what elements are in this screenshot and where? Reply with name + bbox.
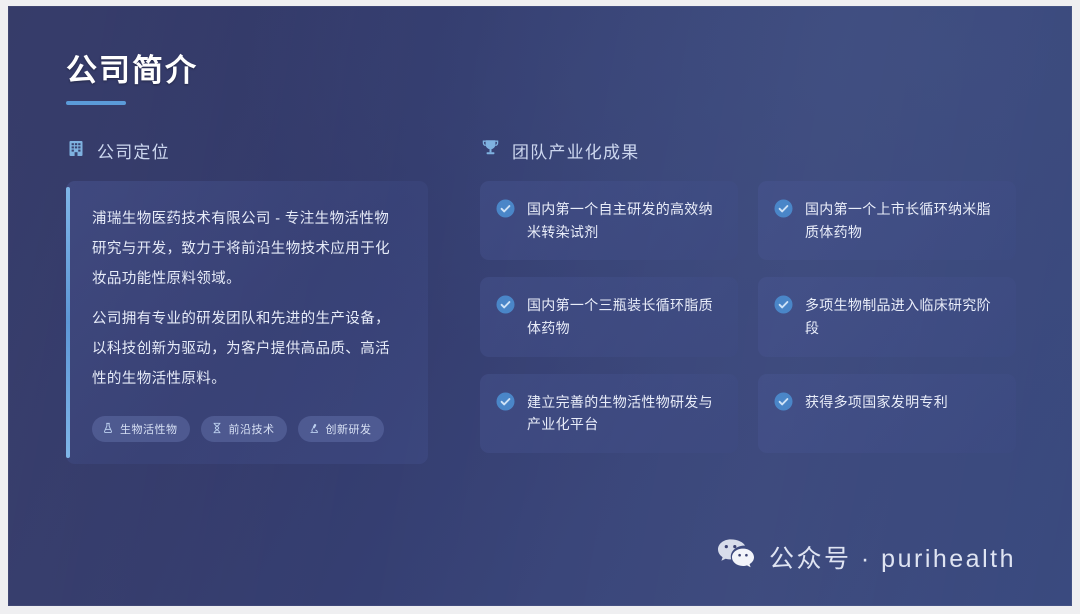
check-circle-icon: [496, 199, 515, 223]
section-header-company-positioning: 公司定位: [66, 138, 428, 162]
section-header-achievements: 团队产业化成果: [480, 138, 1016, 162]
check-circle-icon: [496, 295, 515, 319]
footer-watermark: 公众号 · purihealth: [716, 537, 1016, 576]
slide-content: 公司简介: [8, 6, 1072, 606]
achievement-item[interactable]: 国内第一个上市长循环纳米脂质体药物: [758, 181, 1016, 260]
wechat-icon: [716, 537, 756, 576]
achievement-item[interactable]: 国内第一个自主研发的高效纳米转染试剂: [480, 181, 738, 260]
check-circle-icon: [774, 199, 793, 223]
company-positioning-column: 公司定位 浦瑞生物医药技术有限公司 - 专注生物活性物研究与开发，致力于将前沿生…: [66, 138, 428, 464]
tag-label: 前沿技术: [229, 421, 275, 437]
about-paragraph-2: 公司拥有专业的研发团队和先进的生产设备，以科技创新为驱动，为客户提供高品质、高活…: [92, 305, 402, 394]
hourglass-icon: [211, 422, 223, 437]
tag-innovation-rd[interactable]: 创新研发: [298, 416, 384, 442]
slide-frame: 公司简介: [0, 0, 1080, 614]
achievement-text: 国内第一个三瓶装长循环脂质体药物: [527, 294, 720, 339]
achievement-item[interactable]: 国内第一个三瓶装长循环脂质体药物: [480, 277, 738, 356]
tag-bioactive[interactable]: 生物活性物: [92, 416, 190, 442]
title-underline: [66, 101, 126, 105]
section-label-company-positioning: 公司定位: [97, 138, 170, 163]
achievement-text: 获得多项国家发明专利: [805, 391, 948, 414]
check-circle-icon: [774, 392, 793, 416]
check-circle-icon: [496, 392, 515, 416]
two-column-layout: 公司定位 浦瑞生物医药技术有限公司 - 专注生物活性物研究与开发，致力于将前沿生…: [66, 138, 1016, 464]
tag-list: 生物活性物 前沿技术: [92, 416, 402, 442]
tag-frontier-tech[interactable]: 前沿技术: [201, 416, 287, 442]
company-positioning-card: 浦瑞生物医药技术有限公司 - 专注生物活性物研究与开发，致力于将前沿生物技术应用…: [66, 181, 428, 464]
trophy-icon: [480, 137, 501, 163]
building-icon: [66, 138, 86, 163]
achievement-item[interactable]: 获得多项国家发明专利: [758, 374, 1016, 453]
achievements-grid: 国内第一个自主研发的高效纳米转染试剂 国内第一个上市长循环纳米脂质体药物: [480, 181, 1016, 453]
achievement-item[interactable]: 建立完善的生物活性物研发与产业化平台: [480, 374, 738, 453]
microscope-icon: [308, 422, 320, 437]
achievement-item[interactable]: 多项生物制品进入临床研究阶段: [758, 277, 1016, 356]
slide-canvas: 公司简介: [8, 6, 1072, 606]
achievement-text: 建立完善的生物活性物研发与产业化平台: [527, 391, 720, 436]
tag-label: 创新研发: [326, 421, 372, 437]
achievement-text: 国内第一个上市长循环纳米脂质体药物: [805, 198, 998, 243]
section-label-achievements: 团队产业化成果: [512, 138, 639, 163]
about-paragraph-1: 浦瑞生物医药技术有限公司 - 专注生物活性物研究与开发，致力于将前沿生物技术应用…: [92, 205, 402, 294]
achievement-text: 多项生物制品进入临床研究阶段: [805, 294, 998, 339]
achievement-text: 国内第一个自主研发的高效纳米转染试剂: [527, 198, 720, 243]
footer-text: 公众号 · purihealth: [769, 539, 1016, 575]
flask-icon: [102, 422, 114, 437]
tag-label: 生物活性物: [120, 421, 178, 437]
achievements-column: 团队产业化成果 国内第一个自主研发的高效纳米转染试剂: [480, 138, 1016, 464]
page-title: 公司简介: [66, 54, 1016, 88]
check-circle-icon: [774, 295, 793, 319]
